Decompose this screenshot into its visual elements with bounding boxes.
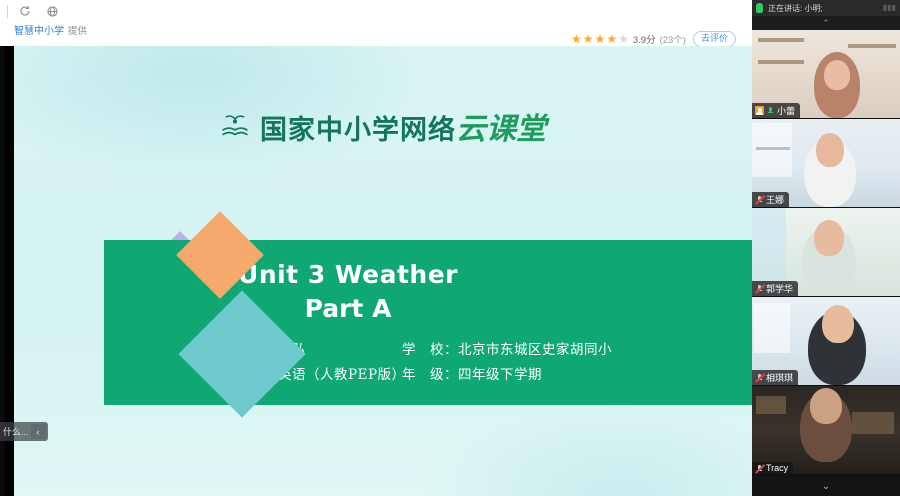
unit-part: Part A [104, 292, 752, 326]
star-icon[interactable]: ★ [583, 33, 594, 45]
brand-title-main: 国家中小学网络 [260, 115, 456, 146]
star-icon[interactable]: ★ [595, 33, 606, 45]
go-rate-button[interactable]: 去评价 [693, 31, 736, 47]
microphone-icon [756, 3, 763, 13]
participant-label: 王娜 [752, 192, 789, 207]
browser-toolbar [0, 0, 752, 22]
participant-label: 郭学华 [752, 281, 798, 296]
provider-link[interactable]: 智慧中小学 [14, 24, 64, 40]
rail-collapse-down-button[interactable]: ⌄ [752, 475, 900, 496]
host-badge-icon [755, 106, 764, 115]
collapsed-hint-panel[interactable]: 什么... ‹ [0, 422, 48, 441]
participant-video-feed [752, 386, 900, 474]
participant-tile[interactable]: 王娜 [752, 119, 900, 208]
participant-tile[interactable]: 小蕾 [752, 30, 900, 119]
signal-icon: ▮▮▮ [883, 3, 896, 12]
microphone-muted-icon [755, 284, 764, 293]
rating-score: 3.9分 [633, 32, 656, 46]
hint-text: 什么... [3, 425, 29, 438]
toolbar-divider [7, 5, 8, 18]
participant-tile[interactable]: 郭学华 [752, 208, 900, 297]
rail-collapse-up-button[interactable]: ⌃ [752, 16, 900, 30]
participant-label: 小蕾 [752, 103, 800, 118]
participant-tile[interactable]: Tracy [752, 386, 900, 475]
star-icon[interactable]: ★ [618, 33, 629, 45]
lesson-meta: 主讲人：张弘 学 校：北京市东城区史家胡同小 学 科：英语（人教PEP版） 年 … [222, 338, 752, 388]
brand-title: 国家中小学网络云课堂 [260, 104, 546, 148]
online-class-screen: 智慧中小学 提供 ★ ★ ★ ★ ★ 3.9分 (23个) 去评价 [0, 0, 900, 496]
speaking-status-bar: 正在讲话: 小明; ▮▮▮ [752, 0, 900, 16]
participant-label: Tracy [752, 462, 793, 474]
microphone-icon [766, 106, 775, 115]
participant-name: 郭学华 [766, 282, 793, 295]
rating-count: (23个) [660, 32, 686, 46]
star-rating[interactable]: ★ ★ ★ ★ ★ [571, 33, 629, 45]
provider-suffix: 提供 [68, 24, 87, 40]
star-icon[interactable]: ★ [606, 33, 617, 45]
participant-video-rail: 正在讲话: 小明; ▮▮▮ ⌃ 小蕾 [752, 0, 900, 496]
speaking-status-text: 正在讲话: 小明; [768, 3, 823, 14]
brand-title-brush: 云课堂 [456, 112, 546, 147]
video-stage[interactable]: 国家中小学网络云课堂 Unit 3 Weather Part A 主讲人：张弘 … [0, 46, 752, 496]
microphone-muted-icon [755, 464, 764, 473]
main-content-column: 智慧中小学 提供 ★ ★ ★ ★ ★ 3.9分 (23个) 去评价 [0, 0, 752, 496]
participant-name: 王娜 [766, 193, 784, 206]
chevron-left-icon[interactable]: ‹ [31, 424, 46, 439]
meta-grade: 年 级：四年级下学期 [402, 363, 542, 388]
star-icon[interactable]: ★ [571, 33, 582, 45]
participant-label: 相琪琪 [752, 370, 798, 385]
globe-icon[interactable] [42, 1, 62, 21]
open-book-logo-icon [220, 112, 250, 140]
participant-name: 小蕾 [777, 104, 795, 117]
lesson-slide: 国家中小学网络云课堂 Unit 3 Weather Part A 主讲人：张弘 … [14, 46, 752, 496]
participant-tile[interactable]: 相琪琪 [752, 297, 900, 386]
participant-name: Tracy [766, 463, 788, 473]
reload-icon[interactable] [15, 1, 35, 21]
microphone-muted-icon [755, 373, 764, 382]
microphone-muted-icon [755, 195, 764, 204]
course-brand-header: 国家中小学网络云课堂 [14, 104, 752, 148]
meta-row: 学 科：英语（人教PEP版） 年 级：四年级下学期 [222, 363, 752, 388]
participant-name: 相琪琪 [766, 371, 793, 384]
meta-school: 学 校：北京市东城区史家胡同小 [402, 338, 612, 363]
provider-line: 智慧中小学 提供 [14, 24, 87, 40]
